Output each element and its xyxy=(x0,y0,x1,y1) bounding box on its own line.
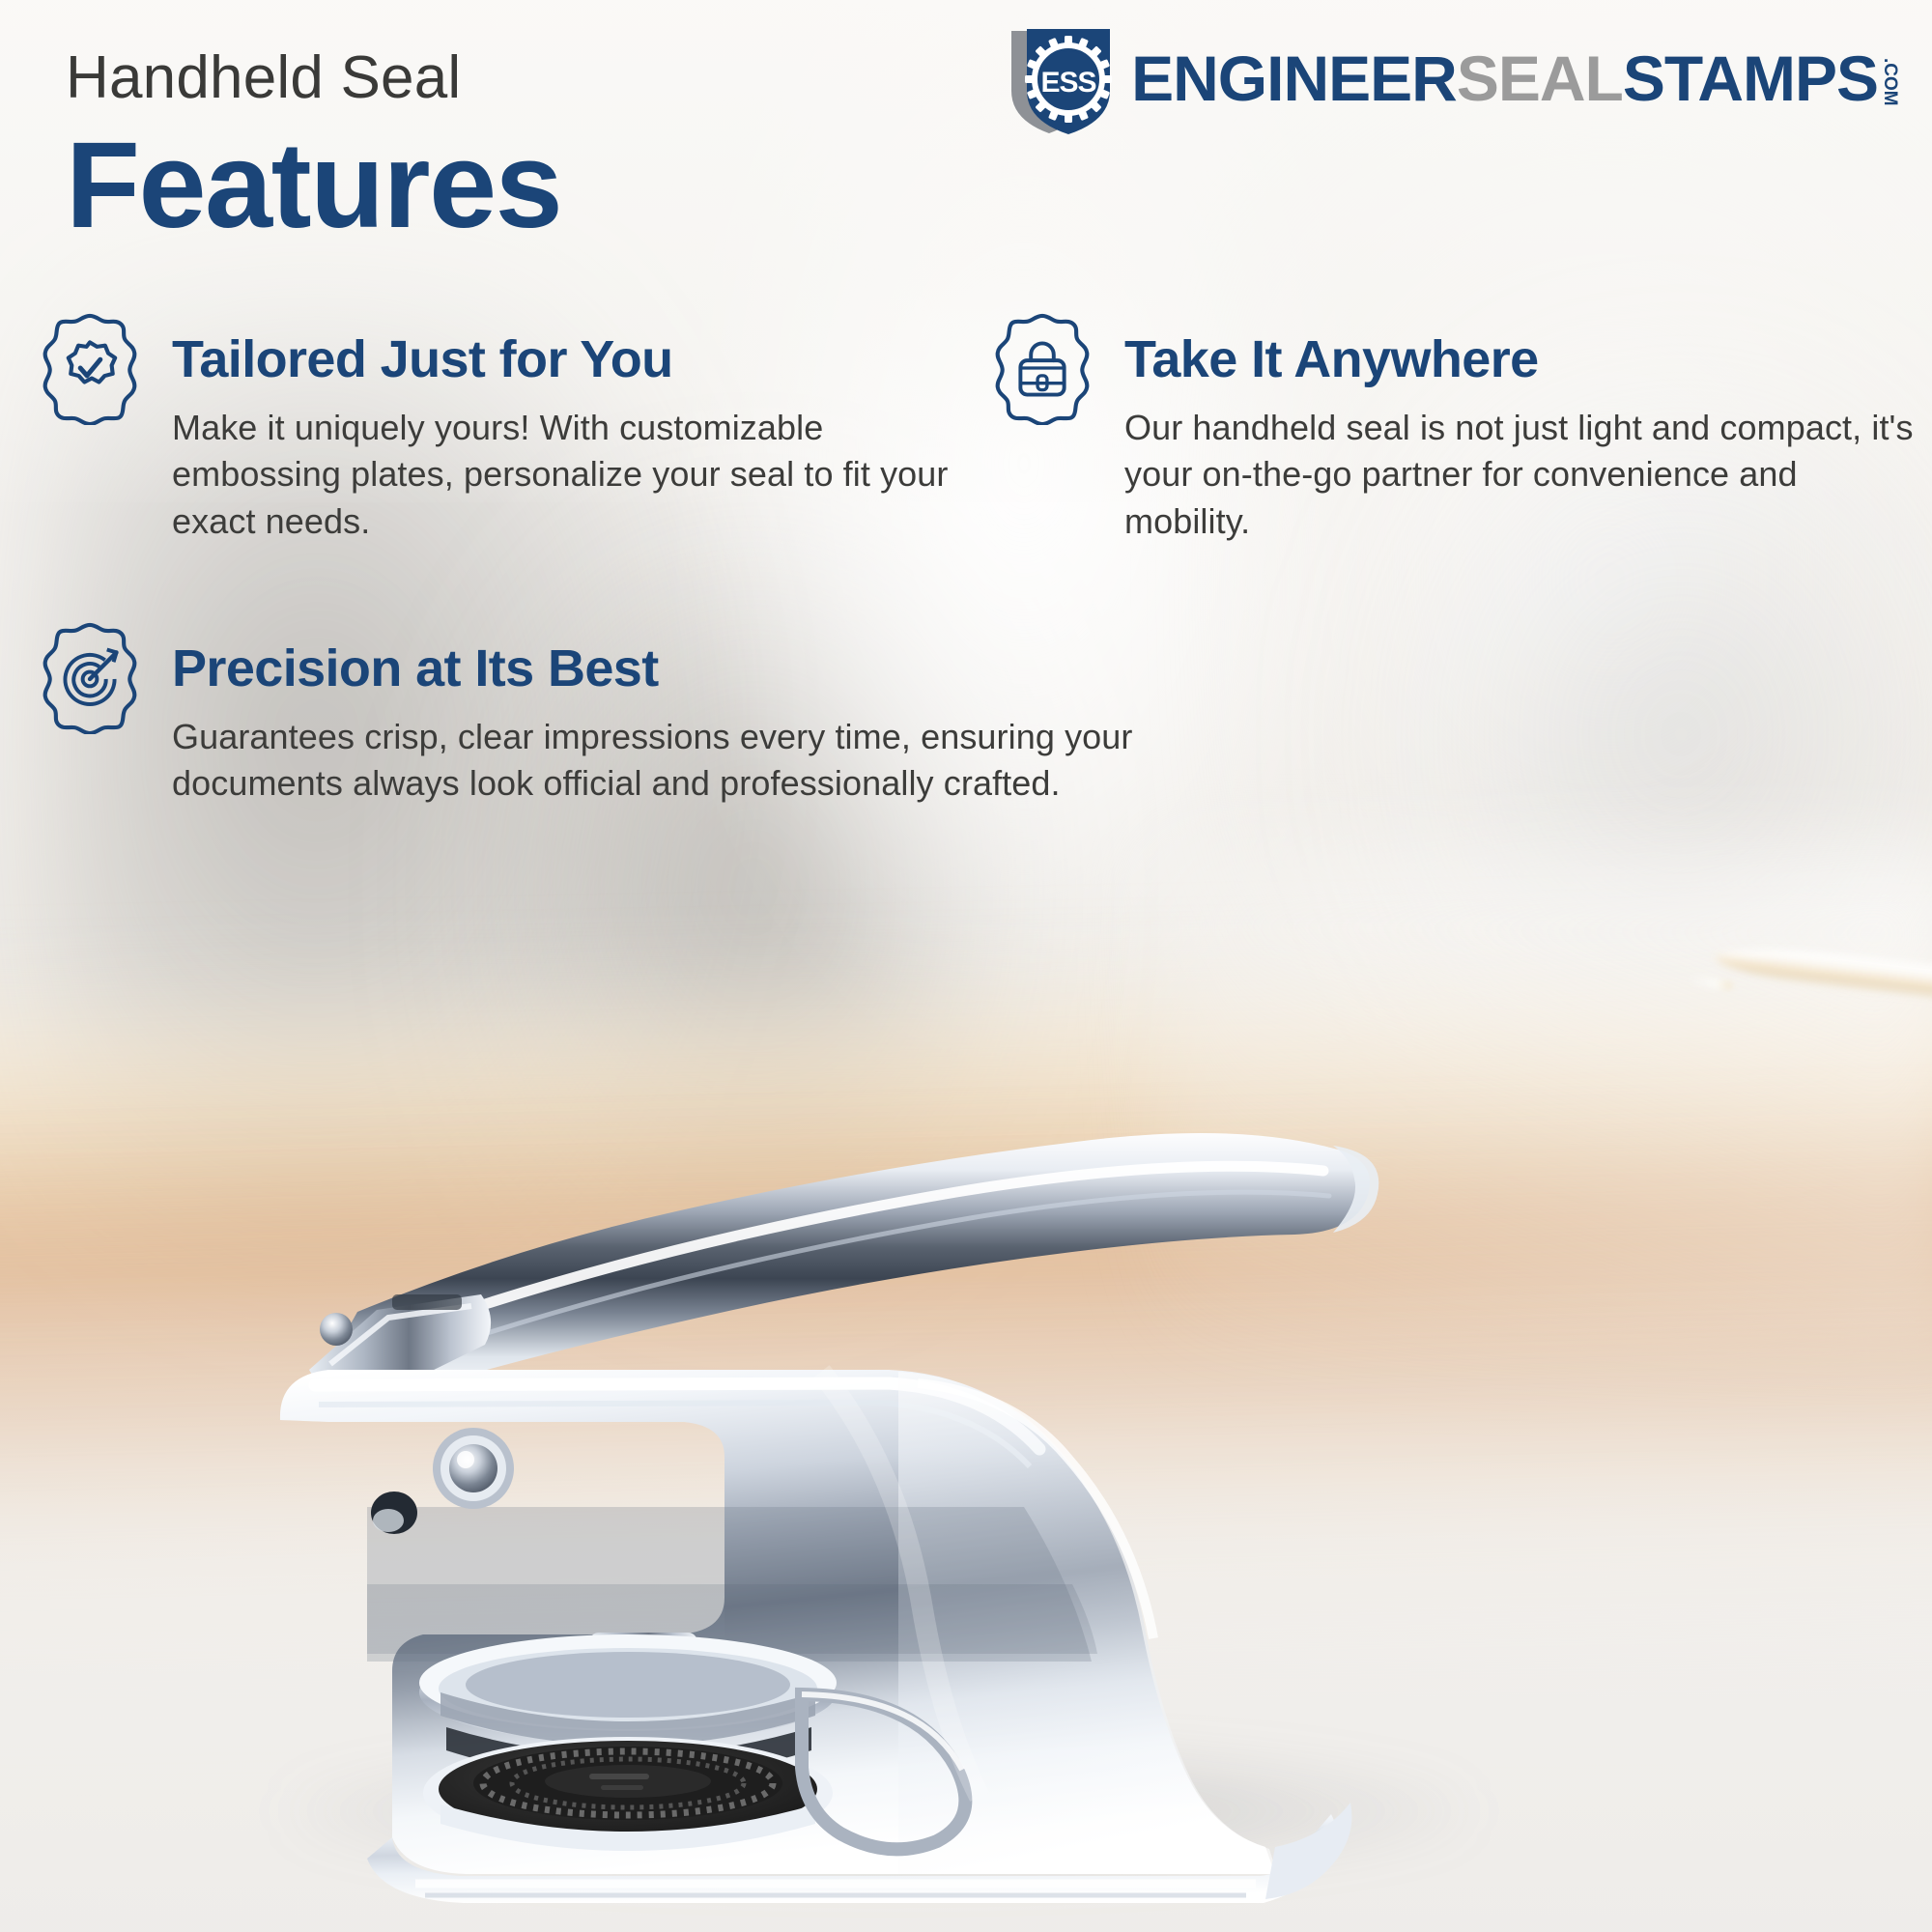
handheld-seal-embosser-image xyxy=(222,1005,1623,1913)
ess-gear-shield-logo-icon: ESS xyxy=(1004,21,1118,135)
feature-text: Our handheld seal is not just light and … xyxy=(1124,405,1922,545)
feature-text: Guarantees crisp, clear impressions ever… xyxy=(172,714,1312,807)
feature-item: Precision at Its Best Guarantees crisp, … xyxy=(0,628,1932,808)
page-title: Handheld Seal Features xyxy=(66,46,561,246)
feature-body: Precision at Its Best Guarantees crisp, … xyxy=(172,628,1932,808)
badge-check-icon xyxy=(33,311,147,425)
logo-word-dotcom: .COM xyxy=(1881,58,1899,106)
header: Handheld Seal Features xyxy=(0,0,1932,290)
svg-text:ESS: ESS xyxy=(1041,67,1096,99)
feature-title: Tailored Just for You xyxy=(172,332,976,387)
features-row-1: Tailored Just for You Make it uniquely y… xyxy=(0,319,1932,545)
features-section: Tailored Just for You Make it uniquely y… xyxy=(0,319,1932,808)
logo-word-stamps: STAMPS xyxy=(1623,46,1878,110)
headline-text: Features xyxy=(66,125,561,246)
feature-item: Tailored Just for You Make it uniquely y… xyxy=(0,319,976,545)
lever-arm xyxy=(324,1133,1370,1393)
feature-title: Take It Anywhere xyxy=(1124,332,1922,387)
logo-word-seal: SEAL xyxy=(1457,46,1623,110)
feature-item: Take It Anywhere Our handheld seal is no… xyxy=(976,319,1922,545)
page-content: Handheld Seal Features xyxy=(0,0,1932,1932)
feature-text: Make it uniquely yours! With customizabl… xyxy=(172,405,976,545)
handbag-badge-icon xyxy=(985,311,1099,425)
embosser-illustration xyxy=(222,1005,1623,1913)
lever-pin xyxy=(320,1313,353,1346)
pivot-rivet xyxy=(449,1444,497,1492)
brand-logo[interactable]: ESS ENGINEER SEAL STAMPS .COM xyxy=(1004,21,1899,135)
feature-body: Take It Anywhere Our handheld seal is no… xyxy=(1124,319,1922,545)
feature-title: Precision at Its Best xyxy=(172,641,1932,696)
feature-body: Tailored Just for You Make it uniquely y… xyxy=(172,319,976,545)
logo-wordmark: ENGINEER SEAL STAMPS .COM xyxy=(1131,46,1899,110)
logo-word-engineer: ENGINEER xyxy=(1131,46,1457,110)
eyebrow-text: Handheld Seal xyxy=(66,46,561,109)
target-badge-icon xyxy=(33,620,147,734)
